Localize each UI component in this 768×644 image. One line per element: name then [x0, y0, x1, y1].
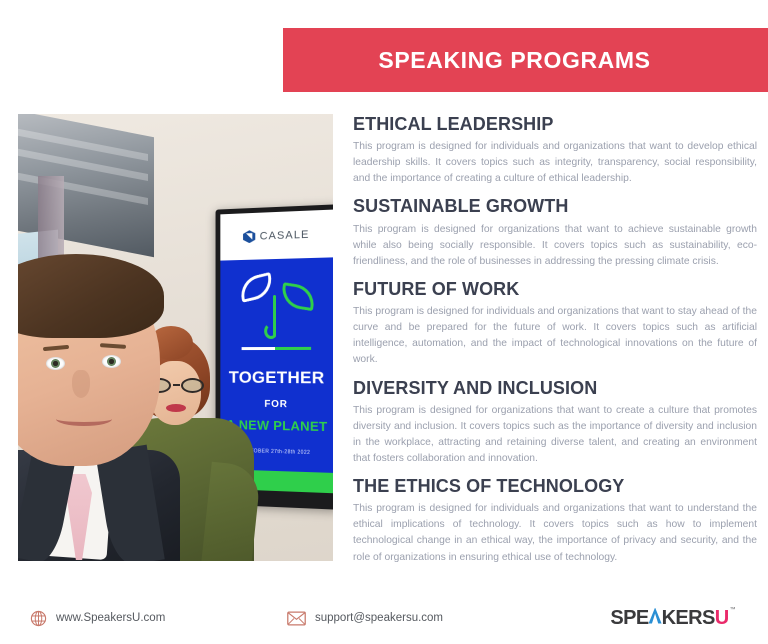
sprout-icon [238, 270, 315, 359]
program-description: This program is designed for individuals… [353, 501, 757, 565]
program-description: This program is designed for individuals… [353, 304, 757, 368]
envelope-icon [287, 611, 306, 626]
website-label: www.SpeakersU.com [56, 612, 165, 624]
man-mouth [56, 412, 112, 426]
program-item: SUSTAINABLE GROWTH This program is desig… [353, 194, 757, 269]
man-pupil-left [51, 359, 60, 368]
logo-text-kers: KERS [662, 607, 715, 630]
logo-trademark: ™ [730, 607, 735, 613]
screen-headline: TOGETHER [220, 368, 333, 389]
casale-logo-bar: CASALE [220, 210, 333, 261]
speaker-photo: CASALE TOGETHER FOR A NEW PLANET OCTOBER… [18, 114, 333, 561]
program-item: THE ETHICS OF TECHNOLOGY This program is… [353, 474, 757, 566]
ground-line-green [275, 346, 311, 349]
leaf-green-icon [279, 282, 317, 311]
casale-brand-label: CASALE [260, 228, 310, 242]
photo-scene: CASALE TOGETHER FOR A NEW PLANET OCTOBER… [18, 114, 333, 561]
program-title: DIVERSITY AND INCLUSION [353, 376, 757, 400]
stem-curl-shape [264, 323, 278, 339]
glasses-lens-right [181, 378, 204, 393]
program-title: SUSTAINABLE GROWTH [353, 194, 757, 218]
footer-email[interactable]: support@speakersu.com [287, 611, 443, 626]
casale-mark-icon [243, 230, 256, 243]
page-title: SPEAKING PROGRAMS [378, 47, 672, 74]
program-title: THE ETHICS OF TECHNOLOGY [353, 474, 757, 498]
globe-icon [30, 610, 47, 627]
program-title: ETHICAL LEADERSHIP [353, 112, 757, 136]
footer: www.SpeakersU.com support@speakersu.com … [0, 592, 768, 644]
program-description: This program is designed for individuals… [353, 139, 757, 187]
logo-letter-u: U [715, 607, 729, 630]
header-banner: SPEAKING PROGRAMS [283, 28, 768, 92]
leaf-white-icon [238, 271, 276, 302]
program-description: This program is designed for organizatio… [353, 403, 757, 467]
glasses-bridge [173, 384, 180, 386]
footer-website[interactable]: www.SpeakersU.com [30, 610, 165, 627]
program-item: DIVERSITY AND INCLUSION This program is … [353, 376, 757, 468]
screen-subline: FOR [220, 398, 333, 411]
email-label: support@speakersu.com [315, 612, 443, 624]
program-item: ETHICAL LEADERSHIP This program is desig… [353, 112, 757, 187]
programs-list: ETHICAL LEADERSHIP This program is desig… [353, 112, 757, 573]
man-pupil-right [107, 357, 116, 366]
program-item: FUTURE OF WORK This program is designed … [353, 277, 757, 369]
logo-text-spe: SPE [610, 607, 648, 630]
slide-root: SPEAKING PROGRAMS CASALE [0, 0, 768, 644]
speakersu-logo[interactable]: SPE KERS U ™ [610, 607, 735, 630]
logo-a-glyph-icon [649, 608, 662, 624]
man-nose [72, 370, 90, 398]
woman-lips [166, 404, 186, 412]
logo-wordmark: SPE KERS U ™ [610, 607, 735, 630]
program-title: FUTURE OF WORK [353, 277, 757, 301]
program-description: This program is designed for organizatio… [353, 222, 757, 270]
